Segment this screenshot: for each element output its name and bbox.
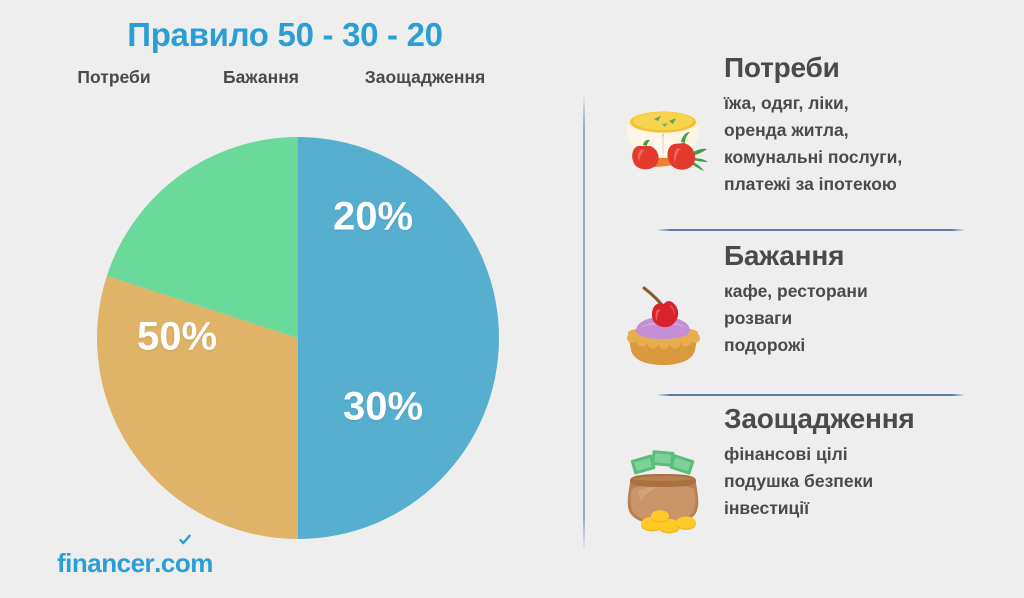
vertical-divider (583, 96, 585, 548)
section-body-wants: кафе, ресторани розваги подорожі (724, 278, 1024, 359)
savings-line-1: фінансові цілі (724, 441, 1024, 468)
legend-item-savings: Заощадження (365, 67, 485, 88)
logo-dot-com-prefix: .c (154, 548, 175, 579)
legend-item-needs: Потреби (77, 67, 150, 88)
financer-logo[interactable]: financer.co m (57, 548, 213, 579)
details-panel: Потреби (600, 0, 1024, 598)
needs-line-1: їжа, одяг, ліки, (724, 90, 1024, 117)
section-body-savings: фінансові цілі подушка безпеки інвестиці… (724, 441, 1024, 522)
section-divider-1 (658, 229, 964, 231)
section-heading-wants: Бажання (724, 240, 844, 272)
wants-line-1: кафе, ресторани (724, 278, 1024, 305)
section-heading-savings: Заощадження (724, 403, 915, 435)
savings-line-3: інвестиції (724, 495, 1024, 522)
soup-bowl-icon (614, 88, 712, 186)
needs-line-3: комунальні послуги, (724, 144, 1024, 171)
money-bag-icon (614, 439, 712, 537)
chart-panel: Правило 50 - 30 - 20 Потреби Бажання Зао… (0, 0, 570, 598)
wants-line-3: подорожі (724, 332, 1024, 359)
pie-chart: 50% 30% 20% (97, 137, 499, 539)
section-body-needs: їжа, одяг, ліки, оренда житла, комунальн… (724, 90, 1024, 198)
logo-m-letter: m (190, 548, 213, 579)
logo-wordmark: financer (57, 548, 154, 579)
check-icon (179, 534, 191, 546)
page-title: Правило 50 - 30 - 20 (0, 16, 570, 54)
cherry-tart-icon (614, 276, 712, 374)
savings-line-2: подушка безпеки (724, 468, 1024, 495)
pie-label-needs: 50% (137, 315, 217, 360)
section-divider-2 (658, 394, 964, 396)
section-heading-needs: Потреби (724, 52, 840, 84)
logo-o-letter: o (175, 548, 190, 579)
pie-label-savings: 20% (333, 195, 413, 240)
needs-line-2: оренда житла, (724, 117, 1024, 144)
chart-legend: Потреби Бажання Заощадження (40, 67, 540, 93)
legend-item-wants: Бажання (223, 67, 299, 88)
needs-line-4: платежі за іпотекою (724, 171, 1024, 198)
pie-label-wants: 30% (343, 385, 423, 430)
wants-line-2: розваги (724, 305, 1024, 332)
